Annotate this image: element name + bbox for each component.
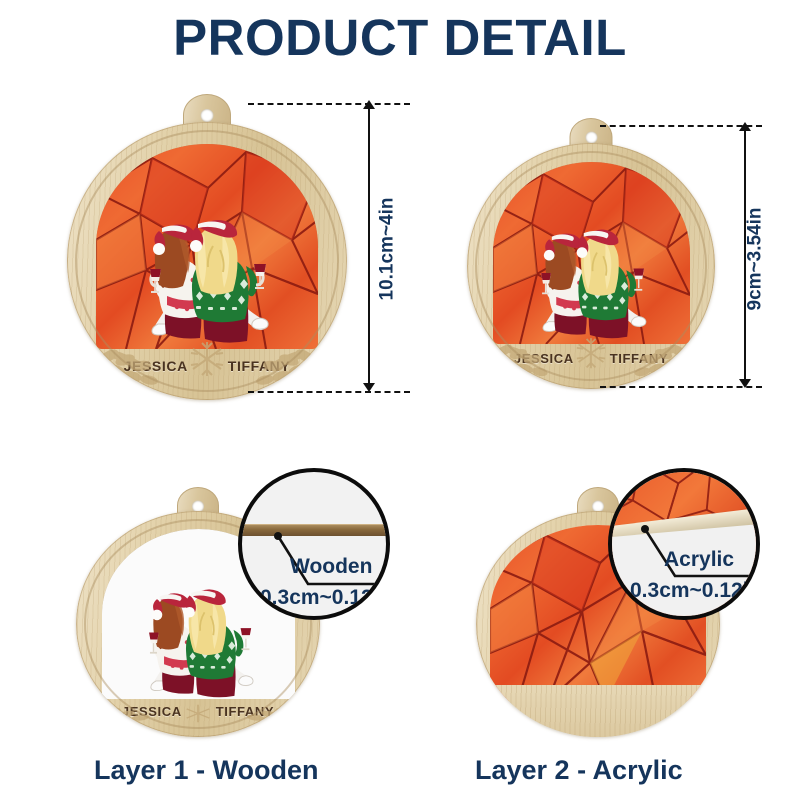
foliage-snowflake-icon [67,334,347,396]
hanger-hole [585,131,597,143]
figure-jessica [150,224,204,338]
two-women-illustration [527,217,660,344]
two-women-illustration [134,206,284,349]
snowflake-icon [187,705,210,722]
callout-material-label: Acrylic [664,548,734,572]
page-title: PRODUCT DETAIL [0,8,800,67]
caption-layer-2: Layer 2 - Acrylic [475,755,683,786]
product-detail-page: PRODUCT DETAIL [0,0,800,800]
geometric-pattern-icon [96,144,318,349]
snowflake-icon [577,338,605,368]
foliage-engraving [67,334,347,396]
ornament-top-left: JESSICA TIFFANY [62,94,352,394]
figure-jessica [541,233,589,334]
wood-disc: JESSICA TIFFANY [67,122,347,400]
couple-artwork [527,217,660,344]
callout-wooden-thickness: Wooden 0.3cm~0.12in [238,468,390,620]
foliage-snowflake-icon [76,699,320,735]
couple-artwork [134,206,284,349]
foliage-snowflake-icon [467,331,715,386]
wood-disc: JESSICA TIFFANY [467,143,715,389]
dim-guide-bottom-left [248,391,410,393]
figure-jessica [149,593,197,693]
foliage-engraving [467,331,715,386]
hanger-hole [201,109,214,122]
callout-magnified-view: Wooden 0.3cm~0.12in [242,472,386,616]
dim-guide-top-left [248,103,410,105]
callout-magnified-view: Acrylic 0.3cm~0.12in [612,472,756,616]
dim-arrow-left [362,100,376,392]
callout-thickness-value: 0.3cm~0.12in [630,579,760,603]
snowflake-icon [191,342,223,376]
foliage-engraving [76,699,320,735]
wood-base-strip [476,685,720,737]
acrylic-window [493,162,690,344]
dim-label-left: 10.1cm~4in [377,198,399,301]
dim-label-right: 9cm~3.54in [745,208,767,311]
acrylic-panel [96,144,318,349]
callout-acrylic-thickness: Acrylic 0.3cm~0.12in [608,468,760,620]
callout-material-label: Wooden [290,555,372,579]
acrylic-window [96,144,318,349]
callout-thickness-value: 0.3cm~0.12in [260,586,390,610]
acrylic-panel [493,162,690,344]
ornament-top-right: JESSICA TIFFANY [462,118,720,386]
figure-tiffany [190,220,268,343]
figure-tiffany [577,230,646,339]
geometric-pattern-icon [493,162,690,344]
caption-layer-1: Layer 1 - Wooden [94,755,319,786]
